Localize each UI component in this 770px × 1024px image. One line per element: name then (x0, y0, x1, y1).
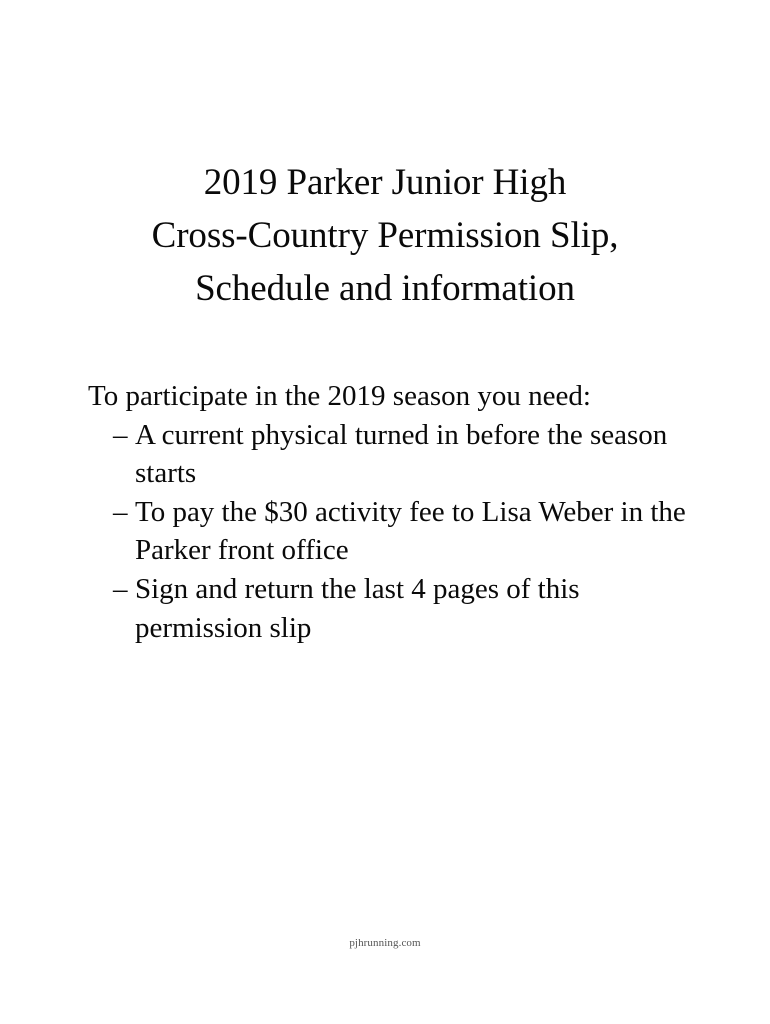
title-line-1: 2019 Parker Junior High (0, 156, 770, 209)
dash-bullet-icon: – (113, 416, 128, 455)
document-page: 2019 Parker Junior High Cross-Country Pe… (0, 0, 770, 1024)
requirements-list: – A current physical turned in before th… (88, 416, 708, 648)
list-item: – A current physical turned in before th… (88, 416, 708, 493)
footer-website-label: pjhrunning.com (349, 937, 420, 949)
dash-bullet-icon: – (113, 570, 128, 609)
title-line-2: Cross-Country Permission Slip, (0, 209, 770, 262)
list-item: – To pay the $30 activity fee to Lisa We… (88, 493, 708, 570)
requirements-section: To participate in the 2019 season you ne… (88, 377, 708, 647)
title-line-3: Schedule and information (0, 262, 770, 315)
page-footer: pjhrunning.com (0, 933, 770, 951)
requirements-intro: To participate in the 2019 season you ne… (88, 377, 708, 416)
list-item-label: Sign and return the last 4 pages of this… (135, 570, 708, 647)
dash-bullet-icon: – (113, 493, 128, 532)
list-item: – Sign and return the last 4 pages of th… (88, 570, 708, 647)
page-title: 2019 Parker Junior High Cross-Country Pe… (0, 156, 770, 315)
list-item-label: A current physical turned in before the … (135, 416, 708, 493)
list-item-label: To pay the $30 activity fee to Lisa Webe… (135, 493, 708, 570)
